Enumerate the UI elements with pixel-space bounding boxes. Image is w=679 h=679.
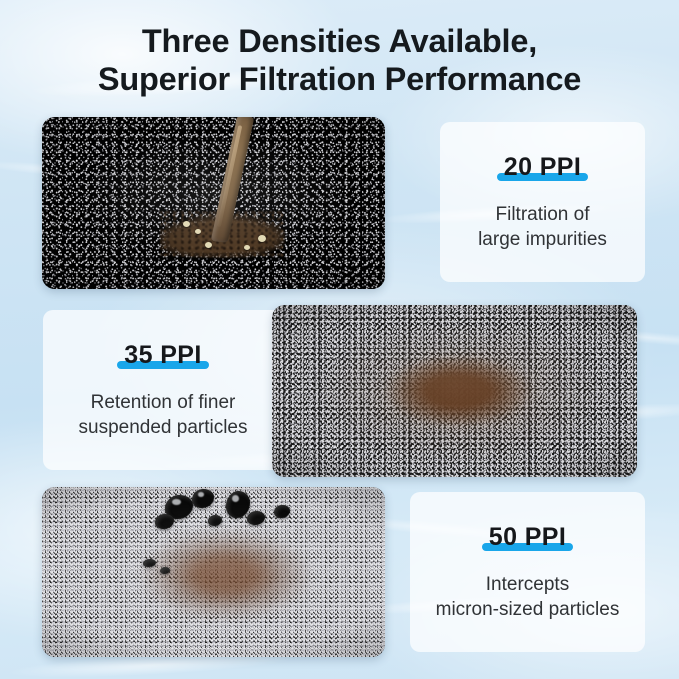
page-title-line-1: Three Densities Available, (0, 22, 679, 60)
photo-vignette (42, 117, 385, 289)
photo-vignette (272, 305, 637, 477)
description-line-1: Filtration of (478, 202, 607, 227)
foam-photo-50ppi (42, 487, 385, 657)
density-description-35ppi: Retention of finer suspended particles (79, 390, 248, 440)
description-line-2: micron-sized particles (436, 597, 620, 622)
ppi-badge-50: 50 PPI (489, 523, 566, 552)
ppi-label: 20 PPI (504, 153, 581, 181)
page-title-line-2: Superior Filtration Performance (0, 60, 679, 98)
density-card-50ppi: 50 PPI Intercepts micron-sized particles (410, 492, 645, 652)
page-title: Three Densities Available, Superior Filt… (0, 22, 679, 98)
ppi-badge-35: 35 PPI (124, 341, 201, 370)
density-row-50ppi: 50 PPI Intercepts micron-sized particles (0, 487, 679, 657)
foam-photo-35ppi (272, 305, 637, 477)
density-description-50ppi: Intercepts micron-sized particles (436, 572, 620, 622)
ppi-badge-20: 20 PPI (504, 153, 581, 182)
infographic-page: Three Densities Available, Superior Filt… (0, 0, 679, 679)
density-description-20ppi: Filtration of large impurities (478, 202, 607, 252)
description-line-2: suspended particles (79, 415, 248, 440)
density-row-20ppi: 20 PPI Filtration of large impurities (0, 117, 679, 289)
density-card-35ppi: 35 PPI Retention of finer suspended part… (43, 310, 283, 470)
description-line-1: Intercepts (436, 572, 620, 597)
description-line-1: Retention of finer (79, 390, 248, 415)
description-line-2: large impurities (478, 227, 607, 252)
density-card-20ppi: 20 PPI Filtration of large impurities (440, 122, 645, 282)
density-row-35ppi: 35 PPI Retention of finer suspended part… (0, 305, 679, 477)
ppi-label: 35 PPI (124, 341, 201, 369)
photo-vignette (42, 487, 385, 657)
ppi-label: 50 PPI (489, 523, 566, 551)
foam-photo-20ppi (42, 117, 385, 289)
